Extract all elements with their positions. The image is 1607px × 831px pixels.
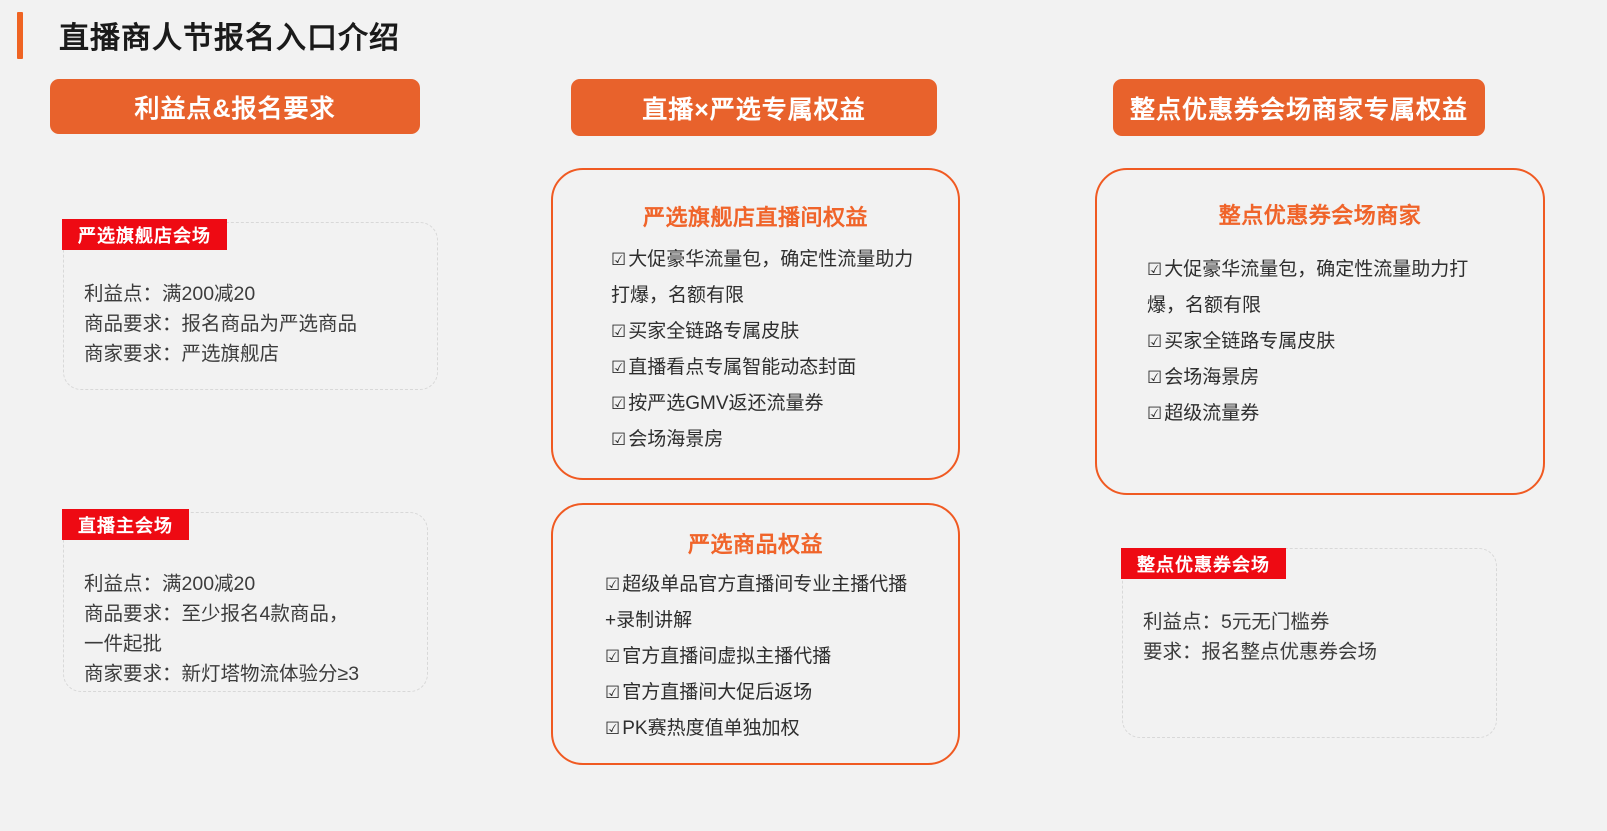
benefit-item-text: 直播看点专属智能动态封面 [628,357,856,378]
check-icon: ☑ [605,647,620,666]
benefit-item-text: 超级单品官方直播间专业主播代播+录制讲解 [605,574,907,631]
benefit-list-item: ☑官方直播间虚拟主播代播 [605,639,935,675]
benefit-item-text: 会场海景房 [628,429,723,450]
benefit-list: ☑大促豪华流量包，确定性流量助力打爆，名额有限 ☑买家全链路专属皮肤 ☑直播看点… [611,242,927,458]
check-icon: ☑ [605,719,620,738]
benefit-list-item: ☑买家全链路专属皮肤 [611,314,927,350]
check-icon: ☑ [611,322,626,341]
info-card-body-live-main-venue: 利益点：满200减20 商品要求：至少报名4款商品， 一件起批 商家要求：新灯塔… [84,569,359,689]
check-icon: ☑ [1147,332,1162,351]
info-line: 要求：报名整点优惠券会场 [1143,637,1377,667]
benefit-card-title: 整点优惠券会场商家 [1097,198,1543,230]
badge-yanxuan-flagship-venue: 严选旗舰店会场 [62,219,227,250]
benefit-card-title: 严选商品权益 [553,527,958,559]
check-icon: ☑ [611,394,626,413]
check-icon: ☑ [605,683,620,702]
info-line: 利益点：5元无门槛券 [1143,607,1377,637]
benefit-list-item: ☑官方直播间大促后返场 [605,675,935,711]
page-title-block: 直播商人节报名入口介绍 [17,10,400,60]
benefit-list-item: ☑大促豪华流量包，确定性流量助力打爆，名额有限 [1147,252,1487,324]
benefit-item-text: 官方直播间虚拟主播代播 [622,646,831,667]
info-line: 利益点：满200减20 [84,569,359,599]
benefit-item-text: 会场海景房 [1164,367,1259,388]
info-line: 商品要求：报名商品为严选商品 [84,309,357,339]
check-icon: ☑ [1147,260,1162,279]
benefit-list-item: ☑超级流量券 [1147,396,1487,432]
info-line: 商品要求：至少报名4款商品， [84,599,359,629]
column-header-coupon-venue-benefits: 整点优惠券会场商家专属权益 [1113,79,1485,136]
info-line: 利益点：满200减20 [84,279,357,309]
benefit-item-text: 买家全链路专属皮肤 [1164,331,1335,352]
benefit-list: ☑超级单品官方直播间专业主播代播+录制讲解 ☑官方直播间虚拟主播代播 ☑官方直播… [605,567,935,747]
benefit-item-text: 官方直播间大促后返场 [622,682,812,703]
page-title: 直播商人节报名入口介绍 [59,13,400,57]
benefit-list-item: ☑直播看点专属智能动态封面 [611,350,927,386]
title-accent-bar [17,12,23,59]
column-header-benefits-requirements: 利益点&报名要求 [50,79,420,134]
benefit-list-item: ☑会场海景房 [611,422,927,458]
check-icon: ☑ [605,575,620,594]
check-icon: ☑ [611,250,626,269]
info-line: 一件起批 [84,629,359,659]
benefit-item-text: PK赛热度值单独加权 [622,718,799,739]
benefit-list: ☑大促豪华流量包，确定性流量助力打爆，名额有限 ☑买家全链路专属皮肤 ☑会场海景… [1147,252,1487,432]
benefit-list-item: ☑PK赛热度值单独加权 [605,711,935,747]
benefit-card-yanxuan-product: 严选商品权益 ☑超级单品官方直播间专业主播代播+录制讲解 ☑官方直播间虚拟主播代… [551,503,960,765]
badge-hourly-coupon-venue: 整点优惠券会场 [1121,548,1286,579]
benefit-item-text: 大促豪华流量包，确定性流量助力打爆，名额有限 [611,249,913,306]
benefit-item-text: 超级流量券 [1164,403,1259,424]
check-icon: ☑ [611,430,626,449]
benefit-list-item: ☑超级单品官方直播间专业主播代播+录制讲解 [605,567,935,639]
benefit-list-item: ☑大促豪华流量包，确定性流量助力打爆，名额有限 [611,242,927,314]
benefit-item-text: 大促豪华流量包，确定性流量助力打爆，名额有限 [1147,259,1468,316]
check-icon: ☑ [1147,368,1162,387]
benefit-list-item: ☑买家全链路专属皮肤 [1147,324,1487,360]
benefit-item-text: 买家全链路专属皮肤 [628,321,799,342]
column-header-live-yanxuan-benefits: 直播×严选专属权益 [571,79,937,136]
benefit-card-hourly-coupon-merchant: 整点优惠券会场商家 ☑大促豪华流量包，确定性流量助力打爆，名额有限 ☑买家全链路… [1095,168,1545,495]
badge-live-main-venue: 直播主会场 [62,509,189,540]
info-line: 商家要求：新灯塔物流体验分≥3 [84,659,359,689]
benefit-list-item: ☑按严选GMV返还流量券 [611,386,927,422]
info-line: 商家要求：严选旗舰店 [84,339,357,369]
benefit-card-yanxuan-flagship-liveroom: 严选旗舰店直播间权益 ☑大促豪华流量包，确定性流量助力打爆，名额有限 ☑买家全链… [551,168,960,480]
benefit-item-text: 按严选GMV返还流量券 [628,393,823,414]
benefit-list-item: ☑会场海景房 [1147,360,1487,396]
check-icon: ☑ [611,358,626,377]
info-card-body-hourly-coupon-venue: 利益点：5元无门槛券 要求：报名整点优惠券会场 [1143,607,1377,667]
check-icon: ☑ [1147,404,1162,423]
benefit-card-title: 严选旗舰店直播间权益 [553,200,958,232]
info-card-body-yanxuan-flagship-venue: 利益点：满200减20 商品要求：报名商品为严选商品 商家要求：严选旗舰店 [84,279,357,369]
